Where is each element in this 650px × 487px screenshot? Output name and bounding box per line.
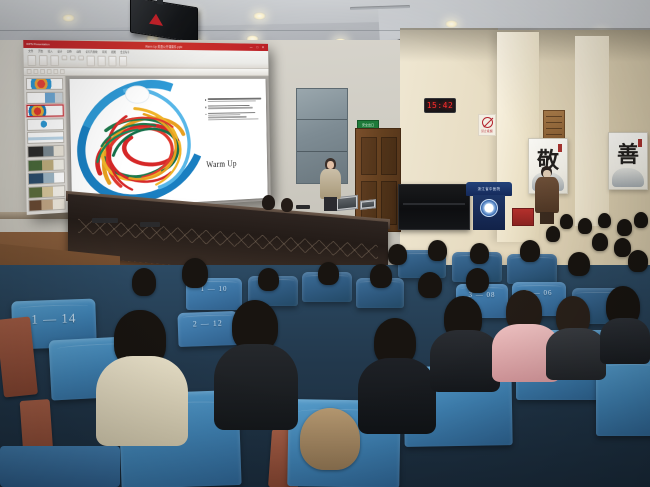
audience-jacket-grey <box>546 328 606 380</box>
audience-head <box>258 268 279 291</box>
audience-head <box>592 233 608 251</box>
presenter-jacket <box>320 169 341 199</box>
lecture-hall-photo: 15:42 禁止吸烟 敬 善 安全出口 WPS Presentation War… <box>0 0 650 487</box>
audience-head <box>370 264 392 288</box>
seated-head <box>262 195 275 210</box>
audience-head <box>428 240 447 261</box>
audience-head-hat <box>300 408 360 470</box>
presenter-face <box>327 161 334 169</box>
audience-head <box>520 240 540 262</box>
audience-head <box>614 238 631 257</box>
audience-jacket-black <box>214 344 298 430</box>
audience-head <box>568 252 590 276</box>
audience-jacket-black <box>600 318 650 364</box>
audience-head <box>634 212 648 228</box>
presenter-person <box>318 158 344 210</box>
auditorium-seat-2-12[interactable]: 2 — 12 <box>177 311 238 347</box>
audience-head <box>628 250 648 272</box>
audience-head <box>598 213 611 228</box>
audience-head <box>466 268 489 293</box>
teacher-coat <box>535 177 559 213</box>
audience-head <box>470 243 489 264</box>
teacher-legs <box>540 212 554 224</box>
audience-jacket-black <box>358 358 436 434</box>
seat-label: 2 — 12 <box>178 318 238 329</box>
audience-head <box>388 244 407 265</box>
microphone <box>140 222 160 227</box>
audience-head <box>578 218 592 234</box>
microphone <box>92 218 118 223</box>
seat-cushion[interactable] <box>0 446 120 487</box>
audience-head <box>617 219 632 236</box>
audience-head <box>546 226 560 242</box>
audience-head <box>560 214 573 229</box>
audience-head <box>182 258 208 288</box>
audience-jacket-cream <box>96 356 188 446</box>
audience-head <box>132 268 156 296</box>
audience-jacket-black <box>430 330 500 392</box>
laptop <box>360 199 376 210</box>
microphone <box>296 205 310 209</box>
standing-teacher-person <box>534 166 560 224</box>
audience-head <box>418 272 442 298</box>
audience-head <box>318 262 339 285</box>
seated-head <box>281 198 293 212</box>
presenter-legs <box>324 197 337 211</box>
